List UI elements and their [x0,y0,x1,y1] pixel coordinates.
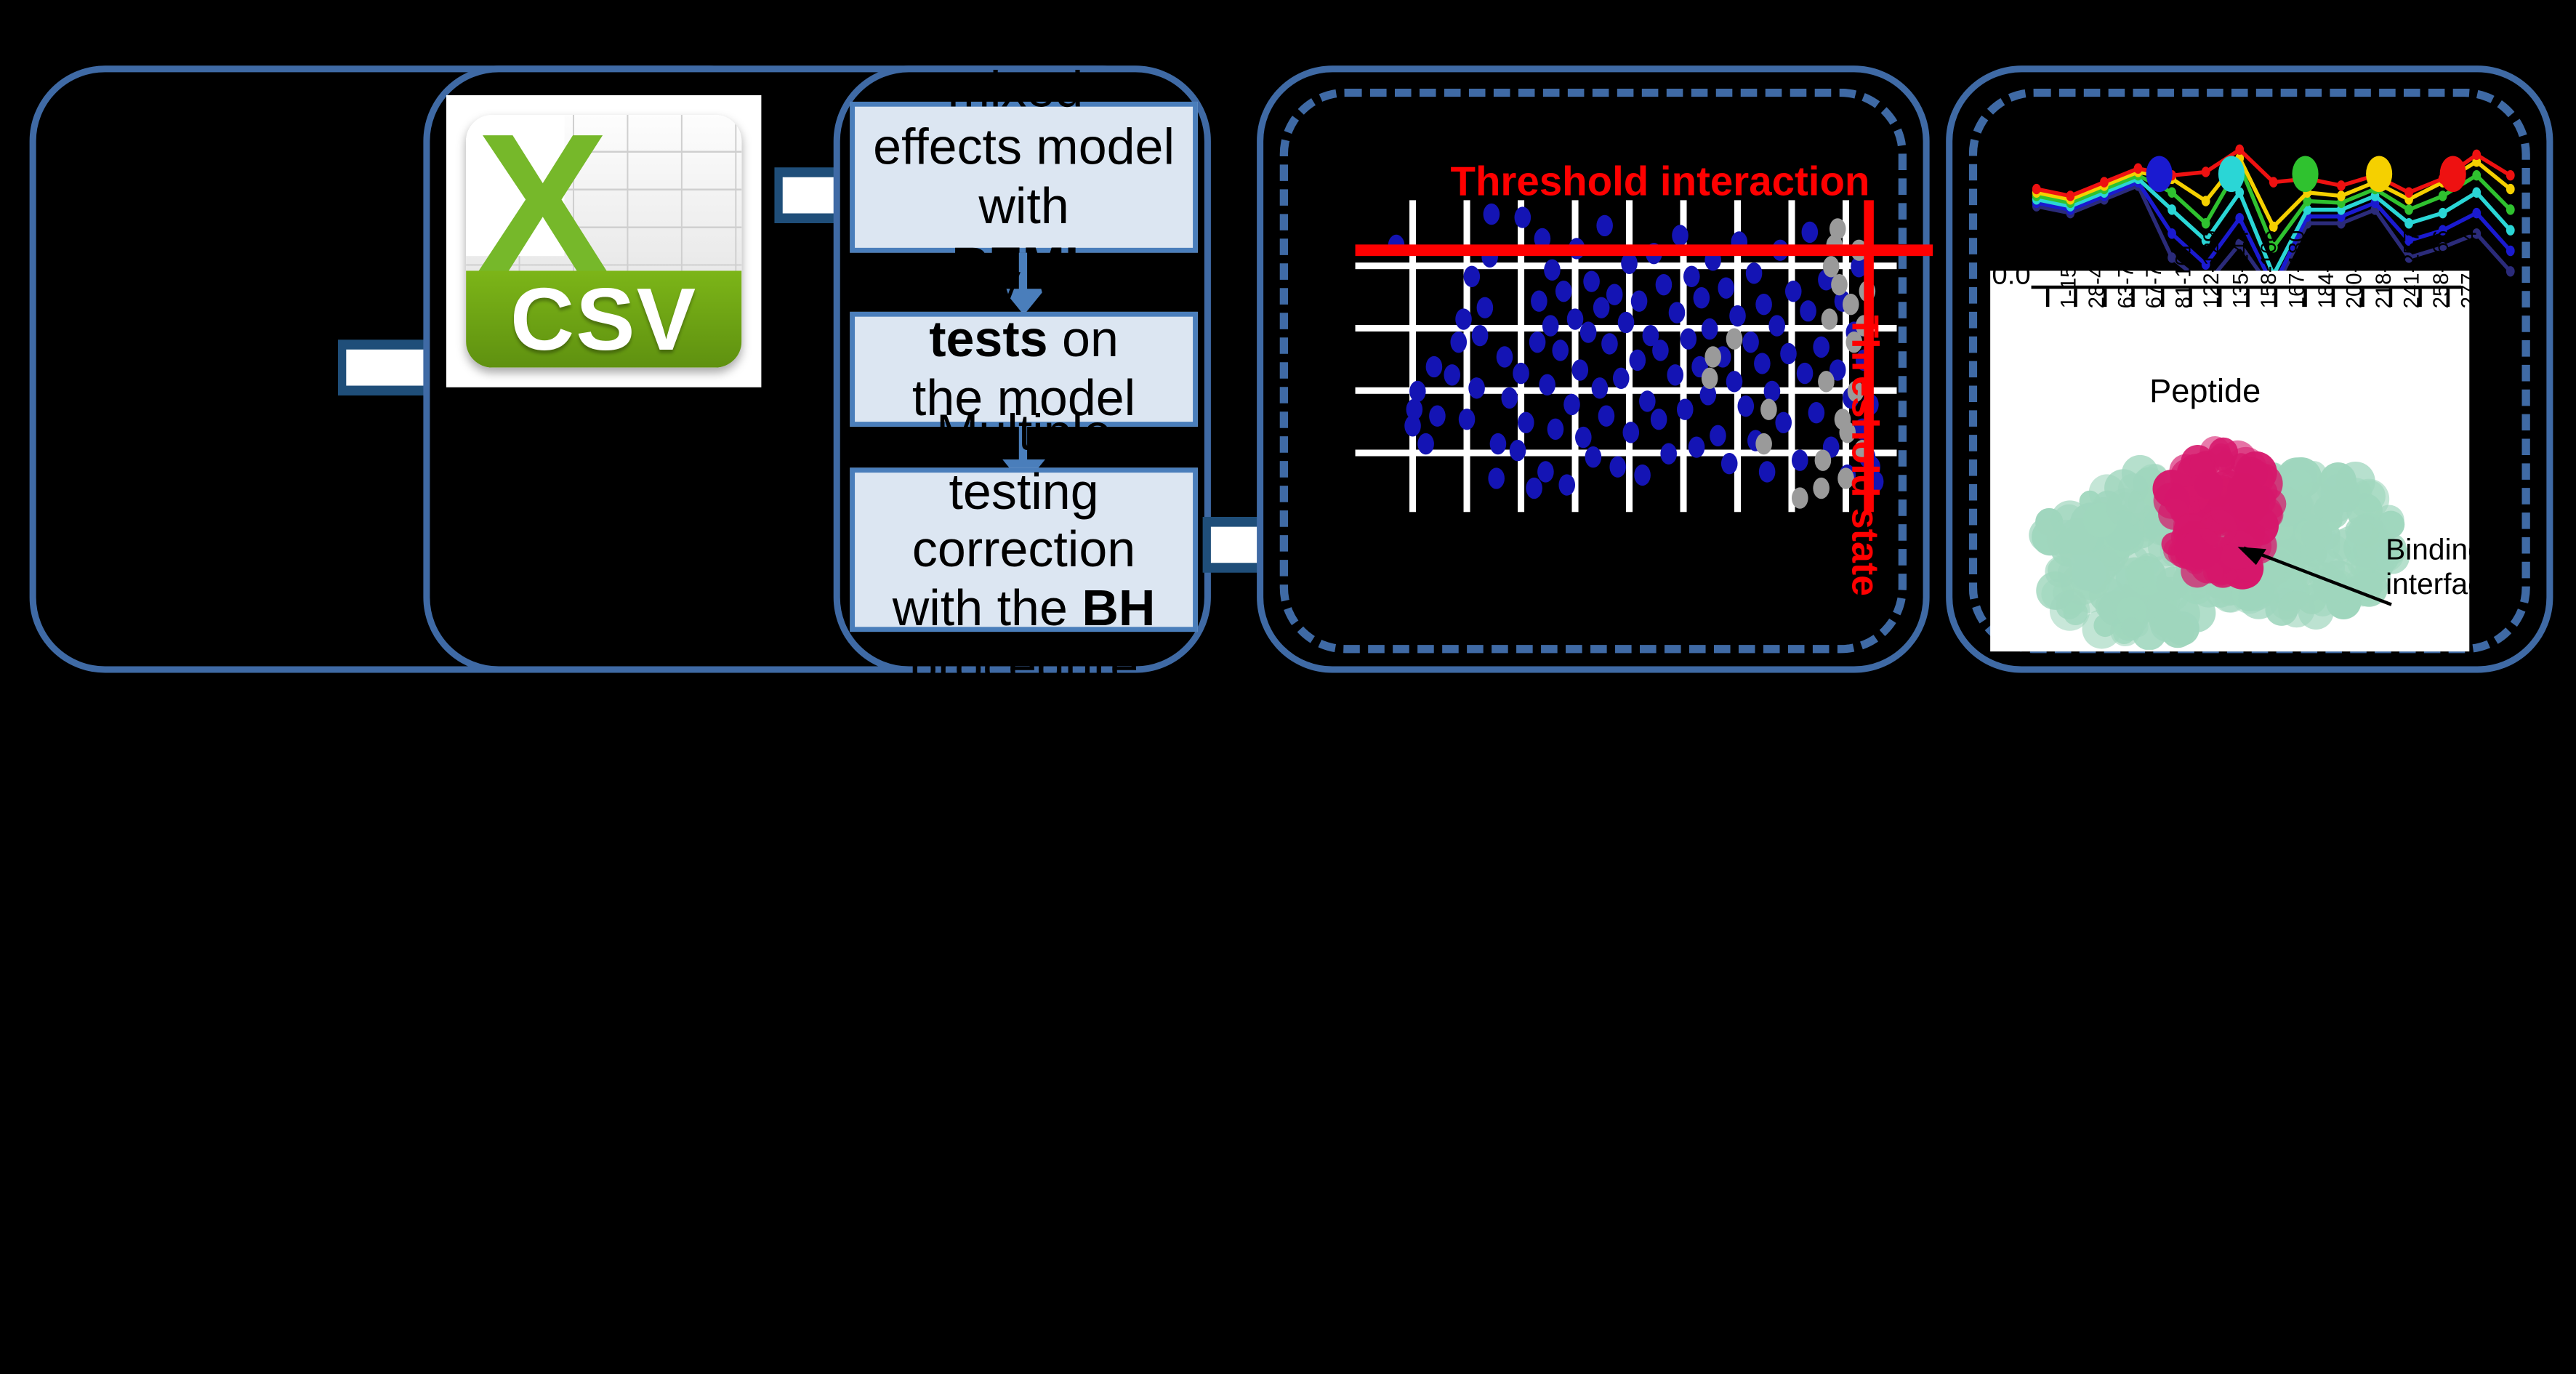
scatter-point [1726,328,1743,349]
scatter-point [1444,365,1460,386]
scatter-point [1775,411,1792,433]
line-marker [2235,213,2244,223]
scatter-point [1807,402,1824,423]
peptide-label: 28-44 [2084,254,2109,308]
protein-structure-image [2010,423,2420,650]
peptide-label: 67-75 [2141,254,2166,308]
reml-line1: Fit a linear mixed- [905,1,1143,117]
scatter-point [1791,486,1808,507]
scatter-point [1518,411,1534,433]
scatter-point [1529,331,1545,352]
peptide-label: 167-180 [2285,230,2309,309]
scatter-point [1821,309,1838,330]
scatter-point [1472,324,1489,345]
scatter-point [1634,465,1651,486]
scatter-point [1553,340,1569,361]
line-marker [2168,204,2176,214]
scatter-point [1813,477,1830,498]
scatter-point [1710,425,1726,446]
bh-line3a: with the [893,579,1082,636]
peptide-label: 158-166 [2256,230,2281,309]
scatter-point [1786,281,1803,302]
scatter-point [1758,462,1775,483]
line-marker [2404,218,2413,228]
scatter-point [1761,399,1778,420]
line-marker [2439,208,2447,218]
reml-line2: effects model with [873,118,1175,234]
legend-dot [2439,156,2466,192]
scatter-point [1680,328,1696,349]
scatter-point [1450,331,1467,352]
scatter-point [1797,362,1814,383]
scatter-point [1601,334,1618,355]
legend-dot [2219,156,2245,192]
scatter-point [1631,290,1648,311]
scatter-point [1629,350,1646,371]
scatter-point [1769,315,1786,336]
peptide-label: 81-101 [2170,242,2195,308]
scatter-point [1515,206,1531,227]
scatter-point [1428,406,1445,427]
scatter-point [1417,433,1434,454]
scatter-point [1488,468,1505,489]
scatter-point [1580,321,1597,342]
scatter-point [1596,215,1613,236]
scatter-point [1753,353,1770,374]
scatter-point [1756,293,1773,314]
y-tick-label-0: 0.0 [1992,260,2030,292]
scatter-point [1620,253,1637,274]
peptide-axis-title: Peptide [2149,374,2261,412]
scatter-point [1623,421,1640,442]
scatter-point [1542,315,1558,336]
scatter-point [1477,297,1494,318]
csv-label-band: CSV [466,272,741,368]
csv-icon-body: X CSV [466,115,741,368]
peptide-label: 1-15 [2056,266,2080,309]
scatter-point [1650,409,1667,430]
scatter-point [1512,362,1529,383]
legend-dot [2366,156,2392,192]
scatter-point [1799,300,1816,321]
scatter-point [1683,265,1699,286]
scatter-point [1742,331,1759,352]
scatter-point [1496,346,1513,367]
scatter-point [1694,287,1710,308]
legend-dot [2293,156,2319,192]
scatter-point [1802,222,1819,243]
scatter-point [1547,418,1564,439]
scatter-point [1610,455,1627,476]
line-marker [2235,145,2244,155]
scatter-point [1656,275,1673,296]
scatter-point [1585,446,1602,467]
scatter-point [1843,293,1859,314]
scatter-point [1607,284,1624,305]
scatter-point [1582,271,1599,292]
scatter-point [1780,343,1797,364]
scatter-point [1599,406,1616,427]
peptide-label: 277-284 [2457,230,2482,309]
bh-line2: correction [912,521,1135,578]
threshold-state-label: Threshold state [1843,315,1887,596]
scatter-point [1791,449,1808,470]
bh-line3c: procedure [909,638,1138,695]
scatter-point [1571,358,1588,379]
peptide-label: 200-214 [2342,230,2367,309]
csv-file-icon: X CSV [446,95,761,387]
peptide-label: 63-73 [2113,254,2138,308]
peptide-tick [2045,289,2049,307]
scatter-point [1410,380,1427,401]
scatter-point [1702,318,1718,340]
scatter-point [1425,355,1442,377]
scatter-point [1667,365,1683,386]
line-marker [2506,246,2515,256]
scatter-point [1463,265,1480,286]
scatter-point [1678,399,1694,420]
line-marker [2506,204,2515,214]
scatter-point [1689,437,1705,458]
bh-step-box: Multiple testing correction with the BH … [850,467,1198,632]
scatter-point [1653,340,1670,361]
scatter-point [1563,393,1580,414]
scatter-point [1531,290,1548,311]
scatter-point [1829,218,1846,239]
scatter-point [1526,477,1542,498]
line-marker [2404,204,2413,214]
line-chart-legend [1982,156,2527,198]
scatter-point [1720,452,1737,473]
threshold-interaction-line [1356,244,1933,255]
protein-surface-svg [2010,423,2420,650]
binding-interface-line2: interface [2386,567,2499,601]
scatter-point [1590,377,1607,398]
scatter-point [1555,281,1572,302]
scatter-point [1745,262,1762,283]
bh-keyword: BH [1082,579,1155,636]
peptide-label: 135-144 [2227,230,2252,309]
line-marker [2472,208,2481,218]
scatter-point [1618,312,1635,333]
peptide-label: 218-237 [2371,230,2396,309]
wald-line1c: on [1048,310,1119,368]
scatter-point [1612,368,1629,389]
scatter-point [1502,387,1518,408]
scatter-point [1728,306,1745,327]
scatter-point [1469,377,1486,398]
line-marker [2506,225,2515,235]
peptide-label: 258-266 [2428,230,2452,309]
scatter-point [1718,278,1735,299]
scatter-point [1661,443,1678,464]
scatter-point [1704,346,1721,367]
scatter-point [1702,368,1718,389]
scatter-point [1458,409,1475,430]
csv-label: CSV [510,269,697,368]
line-marker [2168,228,2176,238]
scatter-point [1558,474,1575,495]
scatter-plot-area [1356,200,1897,512]
grid-line-horizontal [1356,387,1897,394]
line-marker [2202,218,2210,228]
legend-dot [2146,156,2172,192]
scatter-point [1672,225,1689,246]
scatter-point [1813,337,1830,358]
peptide-label: 241-257 [2399,230,2424,309]
reml-step-box: Fit a linear mixed- effects model with R… [850,102,1198,253]
binding-interface-annotation: Binding interface [2386,534,2499,601]
wald-line1a: Apply [893,252,1035,310]
binding-interface-line1: Binding [2386,534,2499,568]
bh-line1: Multiple testing [936,403,1111,519]
peptide-label: 122-129 [2199,230,2223,309]
peptide-label: 184-199 [2314,230,2338,309]
scatter-point [1482,203,1499,224]
scatter-point [1510,440,1526,461]
line-marker [2506,266,2515,276]
